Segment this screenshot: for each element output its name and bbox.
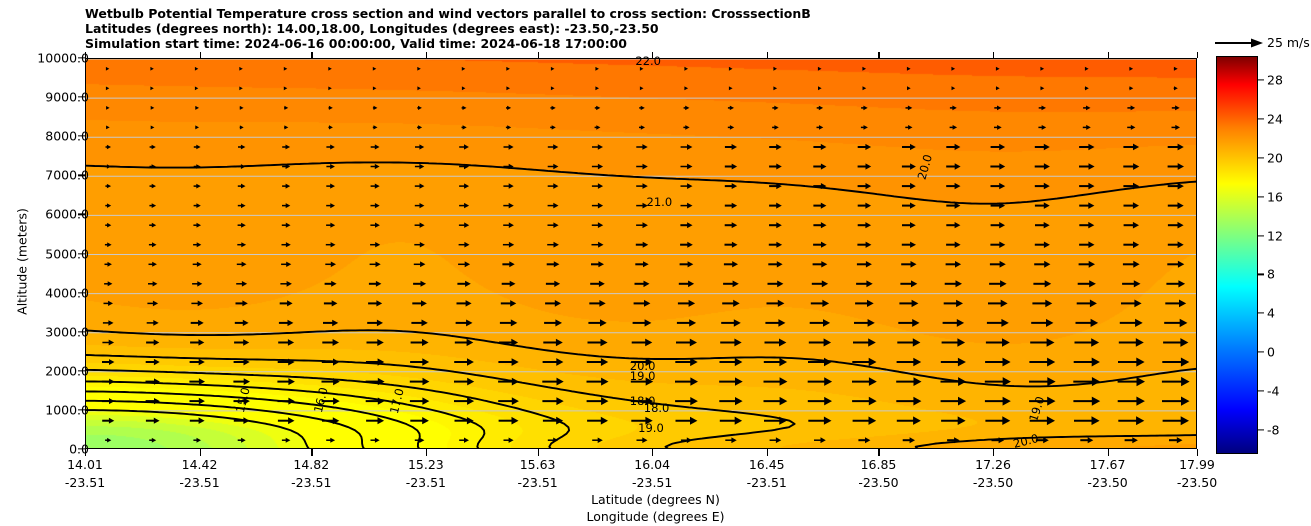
colorbar-tick-label: -4	[1267, 383, 1279, 398]
x-axis-tick-label-latitude: 17.26	[975, 457, 1011, 472]
x-axis-tick-label-longitude: -23.50	[858, 475, 898, 490]
contour-label: 19.0	[630, 369, 656, 383]
colorbar-gradient	[1217, 57, 1257, 453]
x-axis-tick-label-longitude: -23.51	[65, 475, 105, 490]
x-axis-tick-mark	[652, 449, 653, 456]
y-axis-tick-label: 8000.0	[45, 129, 89, 144]
x-axis-tick-mark-top	[1197, 52, 1198, 58]
wind-key-label: 25 m/s	[1267, 35, 1310, 50]
x-axis-tick-mark-top	[426, 52, 427, 58]
x-axis-tick-label-latitude: 16.45	[749, 457, 785, 472]
colorbar-tick-label: 4	[1267, 306, 1275, 321]
colorbar	[1216, 56, 1258, 454]
x-axis-tick-mark-top	[85, 52, 86, 58]
title-line-3: Simulation start time: 2024-06-16 00:00:…	[85, 36, 1195, 51]
x-axis-tick-label-longitude: -23.51	[747, 475, 787, 490]
x-axis-tick-mark	[426, 449, 427, 456]
contour-label: 22.0	[635, 54, 661, 68]
wind-vector-field	[86, 59, 1197, 449]
y-axis-label: Altitude (meters)	[15, 182, 30, 342]
wind-vector-key: 25 m/s	[1213, 33, 1311, 55]
colorbar-tick-mark	[1258, 429, 1264, 430]
x-axis-tick-mark	[538, 449, 539, 456]
x-axis-tick-label-latitude: 16.85	[861, 457, 897, 472]
colorbar-tick-label: 0	[1267, 345, 1275, 360]
x-axis-tick-label-longitude: -23.50	[1087, 475, 1127, 490]
title-line-2: Latitudes (degrees north): 14.00,18.00, …	[85, 21, 1195, 36]
x-axis-tick-mark-top	[993, 52, 994, 58]
colorbar-tick-mark	[1258, 313, 1264, 314]
x-axis-tick-mark-top	[1108, 52, 1109, 58]
x-axis-tick-label-longitude: -23.51	[179, 475, 219, 490]
x-axis-tick-mark	[878, 449, 879, 456]
colorbar-tick-label: 8	[1267, 267, 1275, 282]
x-axis-tick-label-latitude: 17.67	[1090, 457, 1126, 472]
y-axis-tick-label: 7000.0	[45, 168, 89, 183]
y-axis-tick-label: 6000.0	[45, 207, 89, 222]
chart-title-block: Wetbulb Potential Temperature cross sect…	[85, 6, 1195, 52]
x-axis-tick-label-longitude: -23.51	[517, 475, 557, 490]
y-axis-tick-label: 10000.0	[37, 51, 89, 66]
colorbar-tick-label: 24	[1267, 112, 1283, 127]
x-axis-tick-mark-top	[767, 52, 768, 58]
colorbar-tick-mark	[1258, 157, 1264, 158]
x-axis-tick-label-latitude: 14.01	[67, 457, 103, 472]
x-axis-tick-mark	[993, 449, 994, 456]
colorbar-tick-mark	[1258, 351, 1264, 352]
x-axis-tick-mark-top	[652, 52, 653, 58]
x-axis-tick-label-longitude: -23.51	[632, 475, 672, 490]
contour-label: 18.0	[644, 401, 670, 415]
colorbar-tick-mark	[1258, 80, 1264, 81]
x-axis-tick-label-latitude: 14.82	[293, 457, 329, 472]
x-axis-tick-label-longitude: -23.51	[291, 475, 331, 490]
contour-label: 21.0	[647, 195, 673, 209]
x-axis-tick-mark	[767, 449, 768, 456]
x-axis-tick-mark-top	[538, 52, 539, 58]
x-axis-tick-mark	[200, 449, 201, 456]
contour-label: 19.0	[638, 421, 664, 435]
wind-key-arrow-icon	[1213, 33, 1265, 53]
x-axis-tick-mark-top	[878, 52, 879, 58]
colorbar-tick-label: 16	[1267, 189, 1283, 204]
x-axis-tick-label-latitude: 17.99	[1179, 457, 1215, 472]
y-axis-tick-label: 1000.0	[45, 402, 89, 417]
x-axis-tick-mark	[311, 449, 312, 456]
colorbar-tick-label: 28	[1267, 73, 1283, 88]
y-axis-tick-label: 3000.0	[45, 324, 89, 339]
colorbar-tick-mark	[1258, 274, 1264, 275]
y-axis-tick-label: 4000.0	[45, 285, 89, 300]
x-axis-tick-mark-top	[311, 52, 312, 58]
x-axis-tick-mark	[1197, 449, 1198, 456]
x-axis-tick-label-latitude: 16.04	[634, 457, 670, 472]
title-line-1: Wetbulb Potential Temperature cross sect…	[85, 6, 1195, 21]
colorbar-tick-mark	[1258, 390, 1264, 391]
colorbar-tick-label: 12	[1267, 228, 1283, 243]
x-axis-tick-label-longitude: -23.50	[1177, 475, 1217, 490]
x-axis-tick-label-latitude: 15.23	[408, 457, 444, 472]
colorbar-tick-mark	[1258, 235, 1264, 236]
x-axis-tick-label-longitude: -23.51	[406, 475, 446, 490]
x-axis-tick-mark	[1108, 449, 1109, 456]
y-axis-tick-label: 5000.0	[45, 246, 89, 261]
x-axis-tick-label-longitude: -23.50	[973, 475, 1013, 490]
colorbar-tick-label: -8	[1267, 422, 1279, 437]
y-axis-tick-label: 9000.0	[45, 90, 89, 105]
colorbar-tick-mark	[1258, 196, 1264, 197]
colorbar-tick-label: 20	[1267, 150, 1283, 165]
x-axis-tick-label-latitude: 14.42	[182, 457, 218, 472]
y-axis-tick-label: 2000.0	[45, 363, 89, 378]
x-axis-label-longitude: Longitude (degrees E)	[0, 509, 1311, 524]
x-axis-tick-mark	[85, 449, 86, 456]
x-axis-tick-mark-top	[200, 52, 201, 58]
colorbar-tick-mark	[1258, 119, 1264, 120]
x-axis-tick-label-latitude: 15.63	[520, 457, 556, 472]
x-axis-label-latitude: Latitude (degrees N)	[0, 492, 1311, 507]
